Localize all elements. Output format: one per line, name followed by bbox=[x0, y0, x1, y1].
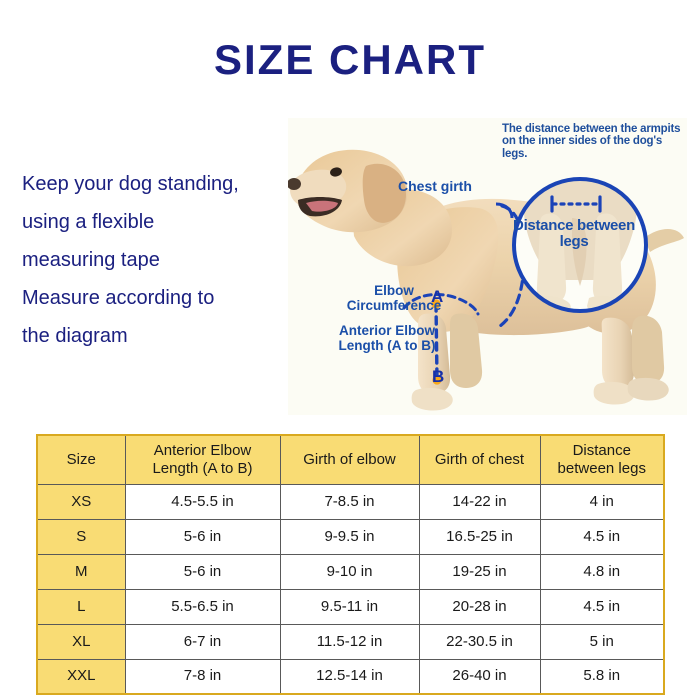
cell-size: XL bbox=[37, 624, 125, 659]
cell-girth-of-elbow: 12.5-14 in bbox=[280, 659, 419, 694]
dog-measurement-diagram: The distance between the armpits on the … bbox=[288, 118, 687, 415]
cell-size: XXL bbox=[37, 659, 125, 694]
instruction-line: using a flexible bbox=[22, 203, 284, 241]
cell-size: XS bbox=[37, 484, 125, 519]
armpit-distance-note: The distance between the armpits on the … bbox=[502, 123, 682, 160]
table-row: M 5-6 in 9-10 in 19-25 in 4.8 in bbox=[37, 554, 664, 589]
table-row: XXL 7-8 in 12.5-14 in 26-40 in 5.8 in bbox=[37, 659, 664, 694]
cell-distance-between-legs: 5 in bbox=[540, 624, 664, 659]
cell-girth-of-chest: 14-22 in bbox=[419, 484, 540, 519]
table-row: L 5.5-6.5 in 9.5-11 in 20-28 in 4.5 in bbox=[37, 589, 664, 624]
cell-anterior-elbow-length: 4.5-5.5 in bbox=[125, 484, 280, 519]
point-a-label: A bbox=[431, 288, 443, 306]
cell-anterior-elbow-length: 7-8 in bbox=[125, 659, 280, 694]
table-row: S 5-6 in 9-9.5 in 16.5-25 in 4.5 in bbox=[37, 519, 664, 554]
chest-girth-label: Chest girth bbox=[398, 179, 472, 194]
instruction-line: measuring tape bbox=[22, 241, 284, 279]
cell-anterior-elbow-length: 5.5-6.5 in bbox=[125, 589, 280, 624]
cell-size: S bbox=[37, 519, 125, 554]
cell-girth-of-elbow: 7-8.5 in bbox=[280, 484, 419, 519]
cell-anterior-elbow-length: 5-6 in bbox=[125, 554, 280, 589]
cell-girth-of-elbow: 11.5-12 in bbox=[280, 624, 419, 659]
cell-girth-of-chest: 19-25 in bbox=[419, 554, 540, 589]
header-anterior-elbow-length: Anterior Elbow Length (A to B) bbox=[125, 435, 280, 484]
cell-girth-of-chest: 20-28 in bbox=[419, 589, 540, 624]
cell-anterior-elbow-length: 5-6 in bbox=[125, 519, 280, 554]
instruction-line: the diagram bbox=[22, 317, 284, 355]
cell-girth-of-chest: 26-40 in bbox=[419, 659, 540, 694]
anterior-elbow-length-label: Anterior Elbow Length (A to B) bbox=[319, 324, 455, 353]
instruction-line: Keep your dog standing, bbox=[22, 165, 284, 203]
point-b-label: B bbox=[432, 368, 444, 386]
table-header-row: Size Anterior Elbow Length (A to B) Girt… bbox=[37, 435, 664, 484]
cell-distance-between-legs: 4 in bbox=[540, 484, 664, 519]
header-distance-between-legs: Distance between legs bbox=[540, 435, 664, 484]
size-chart-page: SIZE CHART Keep your dog standing, using… bbox=[0, 0, 700, 700]
cell-girth-of-elbow: 9.5-11 in bbox=[280, 589, 419, 624]
cell-distance-between-legs: 4.5 in bbox=[540, 519, 664, 554]
table-row: XL 6-7 in 11.5-12 in 22-30.5 in 5 in bbox=[37, 624, 664, 659]
distance-between-legs-label: Distance between legs bbox=[512, 218, 636, 250]
header-girth-of-chest: Girth of chest bbox=[419, 435, 540, 484]
instructions-block: Keep your dog standing, using a flexible… bbox=[22, 165, 284, 355]
instruction-line: Measure according to bbox=[22, 279, 284, 317]
cell-distance-between-legs: 4.5 in bbox=[540, 589, 664, 624]
header-girth-of-elbow: Girth of elbow bbox=[280, 435, 419, 484]
cell-size: M bbox=[37, 554, 125, 589]
header-size: Size bbox=[37, 435, 125, 484]
page-title: SIZE CHART bbox=[0, 36, 700, 84]
cell-girth-of-elbow: 9-9.5 in bbox=[280, 519, 419, 554]
cell-distance-between-legs: 4.8 in bbox=[540, 554, 664, 589]
cell-size: L bbox=[37, 589, 125, 624]
dog-illustration bbox=[288, 118, 687, 415]
size-table: Size Anterior Elbow Length (A to B) Girt… bbox=[36, 434, 665, 695]
cell-anterior-elbow-length: 6-7 in bbox=[125, 624, 280, 659]
cell-girth-of-chest: 16.5-25 in bbox=[419, 519, 540, 554]
cell-girth-of-elbow: 9-10 in bbox=[280, 554, 419, 589]
cell-girth-of-chest: 22-30.5 in bbox=[419, 624, 540, 659]
table-row: XS 4.5-5.5 in 7-8.5 in 14-22 in 4 in bbox=[37, 484, 664, 519]
cell-distance-between-legs: 5.8 in bbox=[540, 659, 664, 694]
